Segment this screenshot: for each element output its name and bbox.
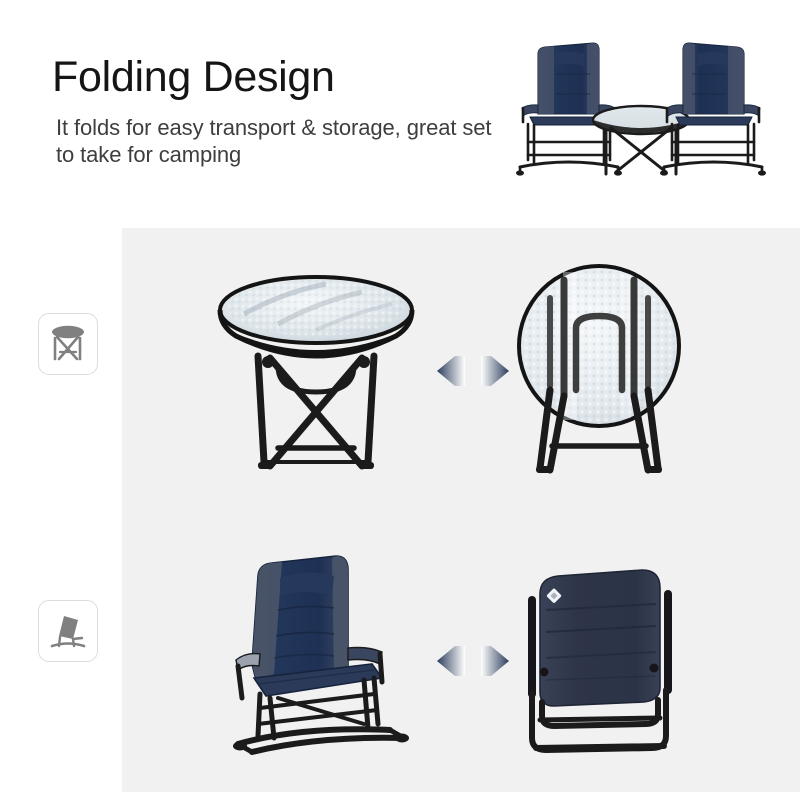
category-icon-rocking-chair: [38, 600, 98, 662]
fold-direction-arrows-chair: [435, 640, 511, 682]
fold-direction-arrows-table: [435, 350, 511, 392]
hero-product-set-image: [498, 24, 784, 196]
page-subtitle: It folds for easy transport & storage, g…: [56, 114, 496, 168]
product-table-open: [206, 262, 426, 482]
folding-table-icon: [46, 321, 90, 367]
arrow-right-icon: [481, 356, 509, 386]
product-chair-folded: [496, 552, 710, 764]
product-chair-open: [222, 548, 446, 766]
category-icon-folding-table: [38, 313, 98, 375]
product-feature-image: Folding Design It folds for easy transpo…: [0, 0, 800, 800]
arrow-left-icon: [437, 356, 465, 386]
product-table-folded: [492, 258, 706, 484]
page-title: Folding Design: [52, 52, 335, 102]
rocking-chair-icon: [46, 608, 90, 654]
arrow-left-icon: [437, 646, 465, 676]
arrow-right-icon: [481, 646, 509, 676]
